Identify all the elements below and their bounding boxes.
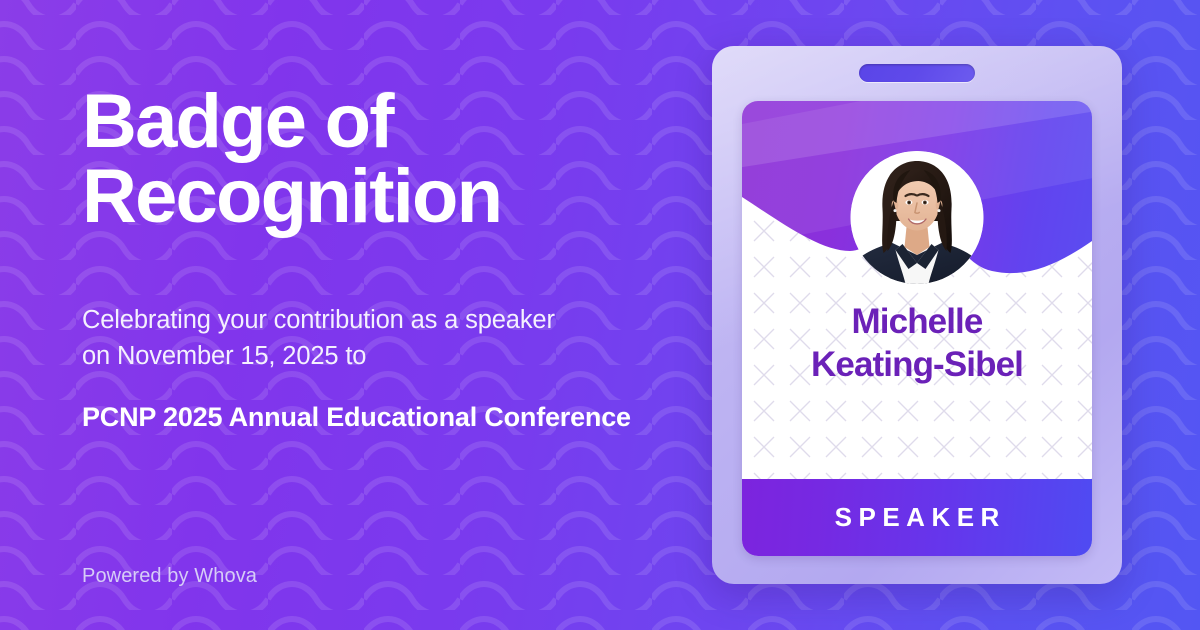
text-column: Badge of Recognition Celebrating your co… — [82, 0, 682, 630]
role-band: SPEAKER — [742, 479, 1092, 556]
badge-slot-hole — [859, 64, 975, 82]
avatar — [851, 151, 984, 284]
badge-card: Michelle Keating-Sibel SPEAKER — [742, 101, 1092, 556]
powered-by-label: Powered by Whova — [82, 565, 257, 588]
page-title: Badge of Recognition — [82, 84, 501, 234]
badge-holder: Michelle Keating-Sibel SPEAKER — [712, 46, 1122, 584]
avatar-photo — [851, 151, 984, 284]
attendee-name: Michelle Keating-Sibel — [754, 301, 1080, 386]
role-label: SPEAKER — [828, 502, 1006, 533]
subtitle-text: Celebrating your contribution as a speak… — [82, 302, 642, 374]
event-name: PCNP 2025 Annual Educational Conference — [82, 398, 642, 436]
